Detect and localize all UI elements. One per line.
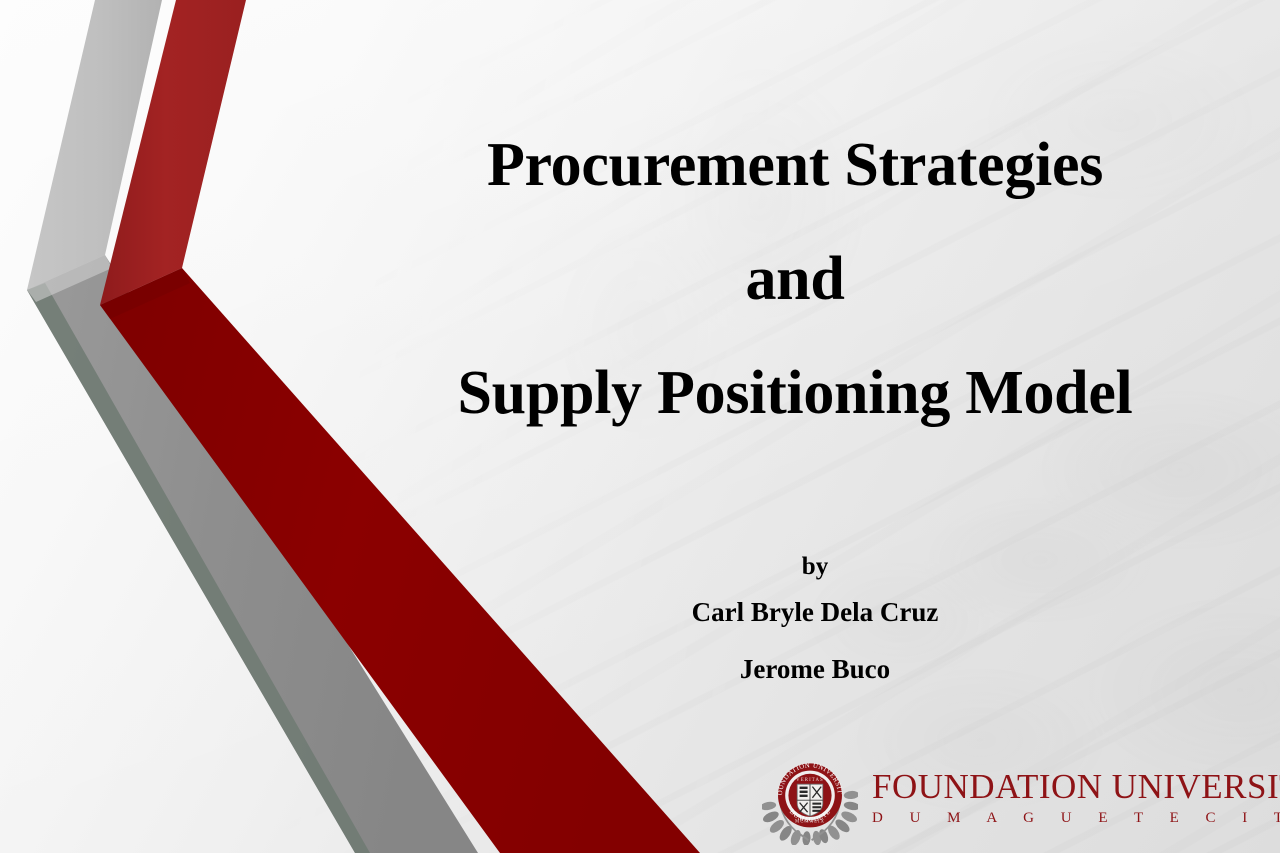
byline: by Carl Bryle Dela Cruz Jerome Buco [430,550,1200,698]
title-line-3: Supply Positioning Model [330,336,1260,450]
title-line-1: Procurement Strategies [330,108,1260,222]
title-slide: Procurement Strategies and Supply Positi… [0,0,1280,853]
wordmark-sub-text: D U M A G U E T E C I T Y [872,811,1280,826]
wordmark-main-text: FOUNDATION UNIVERSITY [872,769,1280,804]
seal-year-text: MCMXLIX [795,820,825,825]
foundation-university-seal-icon: FOUNDATION UNIVERSITY DUMAGUETE VERITAS [762,749,858,845]
seal-shield [797,784,823,816]
title-line-2: and [330,222,1260,336]
byline-by-label: by [430,550,1200,584]
author-name-1: Carl Bryle Dela Cruz [430,584,1200,641]
university-logo-lockup: FOUNDATION UNIVERSITY DUMAGUETE VERITAS [762,748,1262,846]
author-name-2: Jerome Buco [430,641,1200,698]
slide-title: Procurement Strategies and Supply Positi… [330,108,1260,450]
university-wordmark: FOUNDATION UNIVERSITY D U M A G U E T E … [872,769,1280,826]
seal-motto-text: VERITAS [796,778,824,783]
